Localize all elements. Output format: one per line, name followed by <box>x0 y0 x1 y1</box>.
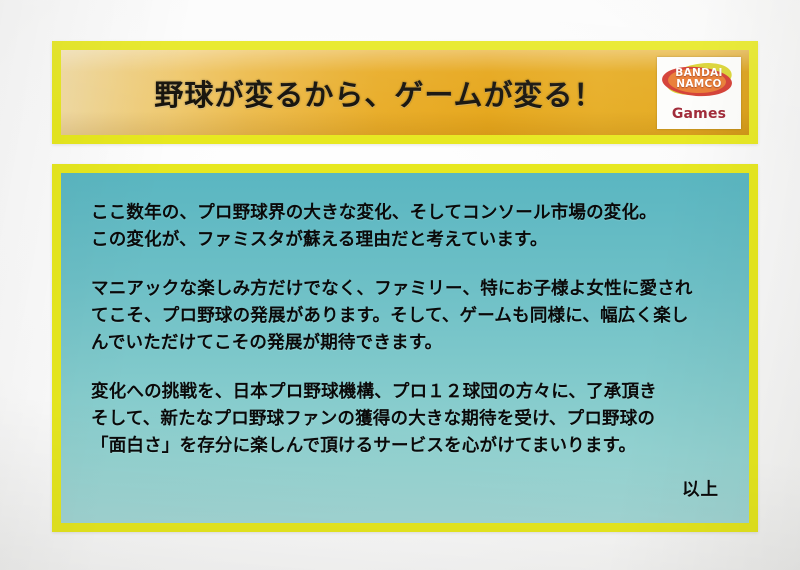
body-panel: ここ数年の、プロ野球界の大きな変化、そしてコンソール市場の変化。 この変化が、フ… <box>52 164 758 532</box>
paragraph-line: 変化への挑戦を、日本プロ野球機構、プロ１２球団の方々に、了承頂き <box>91 379 719 406</box>
body-panel-fill: ここ数年の、プロ野球界の大きな変化、そしてコンソール市場の変化。 この変化が、フ… <box>61 173 749 523</box>
paragraph-line: この変化が、ファミスタが蘇える理由だと考えています。 <box>91 227 719 254</box>
closing-signature: 以上 <box>682 476 719 501</box>
logo-games-text: Games <box>657 106 741 122</box>
paragraph-1: ここ数年の、プロ野球界の大きな変化、そしてコンソール市場の変化。 この変化が、フ… <box>91 200 719 254</box>
paragraph-line: んでいただけてこその発展が期待できます。 <box>91 330 719 357</box>
title-banner-fill: 野球が変るから、ゲームが変る！ BANDAI NAMCO Games <box>61 50 749 135</box>
paragraph-2: マニアックな楽しみ方だけでなく、ファミリー、特にお子様よ女性に愛され てこそ、プ… <box>91 276 719 357</box>
logo-wordmark-line2: NAMCO <box>657 79 741 90</box>
paragraph-3: 変化への挑戦を、日本プロ野球機構、プロ１２球団の方々に、了承頂き そして、新たな… <box>91 379 719 460</box>
title-banner: 野球が変るから、ゲームが変る！ BANDAI NAMCO Games <box>52 41 758 144</box>
paragraph-line: 「面白さ」を存分に楽しんで頂けるサービスを心がけてまいります。 <box>91 433 719 460</box>
slide-photograph: 野球が変るから、ゲームが変る！ BANDAI NAMCO Games ここ数年の… <box>0 0 800 570</box>
paragraph-line: マニアックな楽しみ方だけでなく、ファミリー、特にお子様よ女性に愛され <box>91 276 719 303</box>
paragraph-line: ここ数年の、プロ野球界の大きな変化、そしてコンソール市場の変化。 <box>91 200 719 227</box>
slide-title: 野球が変るから、ゲームが変る！ <box>154 72 603 114</box>
paragraph-line: てこそ、プロ野球の発展があります。そして、ゲームも同様に、幅広く楽し <box>91 303 719 330</box>
logo-mark: BANDAI NAMCO <box>657 57 741 102</box>
bandai-namco-games-logo: BANDAI NAMCO Games <box>657 57 741 129</box>
paragraph-line: そして、新たなプロ野球ファンの獲得の大きな期待を受け、プロ野球の <box>91 406 719 433</box>
logo-wordmark: BANDAI NAMCO <box>657 68 741 90</box>
